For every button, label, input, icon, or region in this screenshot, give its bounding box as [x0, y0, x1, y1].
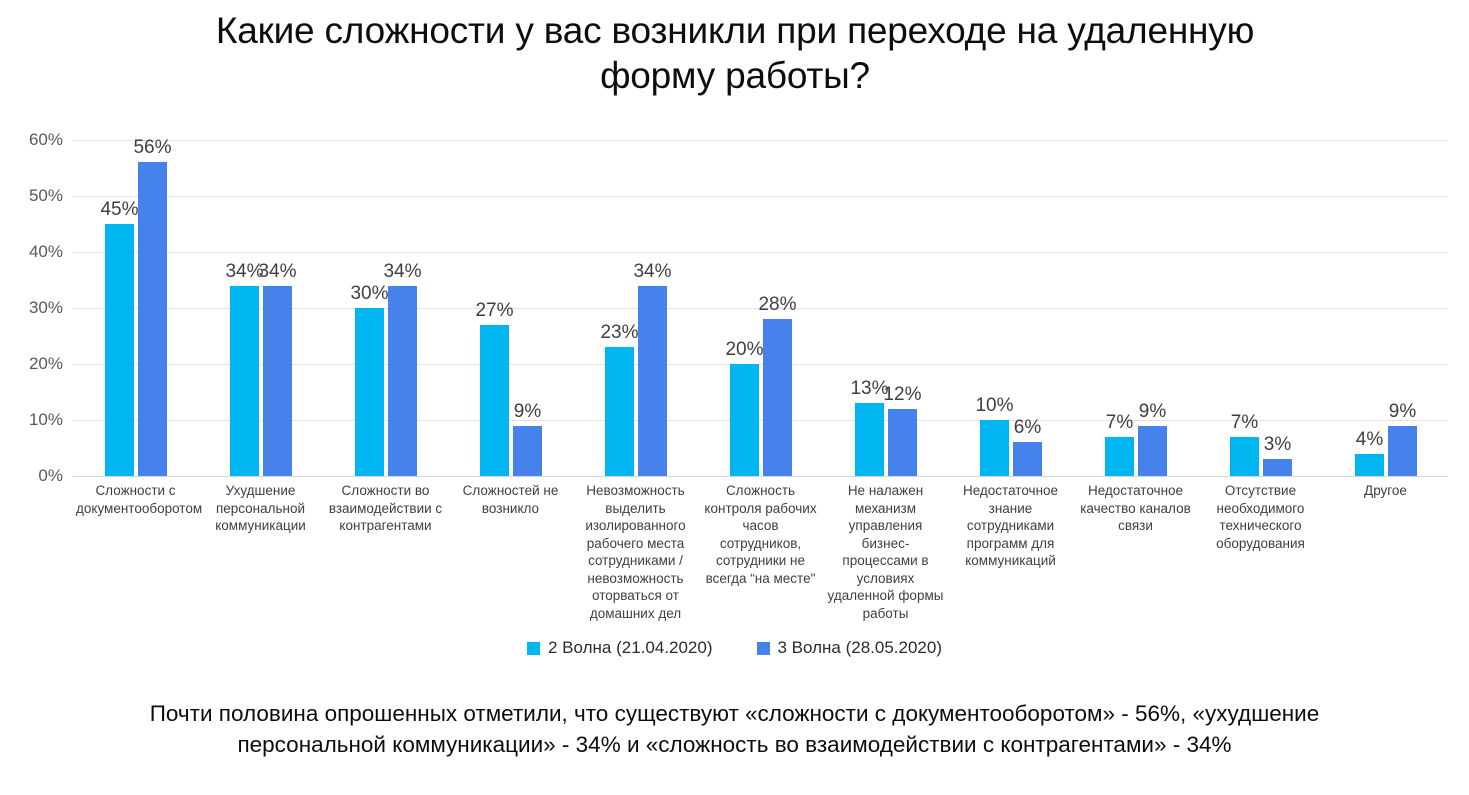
bar-group: 23%34%: [605, 140, 667, 476]
y-axis-tick-label: 10%: [0, 410, 73, 430]
x-axis-label: Недостаточное качество каналов связи: [1076, 482, 1195, 535]
bar-series-2[interactable]: [138, 162, 167, 476]
bar-group: 4%9%: [1355, 140, 1417, 476]
bar-value-label: 9%: [1368, 401, 1438, 423]
bar-group: 27%9%: [480, 140, 542, 476]
bar-value-label: 12%: [868, 384, 938, 406]
x-axis-category-labels: Сложности с документооборотомУхудшение п…: [73, 482, 1448, 627]
bar-value-label: 34%: [368, 261, 438, 283]
y-axis-tick-label: 50%: [0, 186, 73, 206]
bar-value-label: 28%: [743, 294, 813, 316]
bar-group: 10%6%: [980, 140, 1042, 476]
bar-value-label: 56%: [118, 137, 188, 159]
bar-value-label: 7%: [1210, 412, 1280, 434]
slide-chart-page: Какие сложности у вас возникли при перех…: [0, 0, 1469, 795]
x-axis-label: Сложность контроля рабочих часов сотрудн…: [701, 482, 820, 587]
x-axis-label: Сложностей не возникло: [451, 482, 570, 517]
bar-value-label: 27%: [460, 300, 530, 322]
bar-value-label: 3%: [1243, 434, 1313, 456]
x-axis-label: Недостаточное знание сотрудниками програ…: [951, 482, 1070, 570]
bar-value-label: 9%: [493, 401, 563, 423]
bar-group: 30%34%: [355, 140, 417, 476]
bar-series-2[interactable]: [1138, 426, 1167, 476]
bar-series-1[interactable]: [355, 308, 384, 476]
bar-series-2[interactable]: [1013, 442, 1042, 476]
bar-series-2[interactable]: [1388, 426, 1417, 476]
bar-series-1[interactable]: [730, 364, 759, 476]
bar-group: 13%12%: [855, 140, 917, 476]
bar-series-1[interactable]: [105, 224, 134, 476]
bar-group: 7%9%: [1105, 140, 1167, 476]
y-axis-tick-label: 20%: [0, 354, 73, 374]
chart-legend: 2 Волна (21.04.2020)3 Волна (28.05.2020): [0, 638, 1469, 658]
bar-group: 34%34%: [230, 140, 292, 476]
legend-label: 3 Волна (28.05.2020): [778, 638, 943, 658]
bar-series-2[interactable]: [513, 426, 542, 476]
bar-group: 20%28%: [730, 140, 792, 476]
bar-series-2[interactable]: [263, 286, 292, 476]
chart-plot-area: 45%56%34%34%30%34%27%9%23%34%20%28%13%12…: [0, 140, 1469, 490]
legend-item-1[interactable]: 2 Волна (21.04.2020): [527, 638, 713, 658]
x-axis-label: Невозможность выделить изолированного ра…: [576, 482, 695, 622]
y-axis-tick-label: 30%: [0, 298, 73, 318]
bar-series-1[interactable]: [605, 347, 634, 476]
x-axis-label: Не налажен механизм управления бизнес-пр…: [826, 482, 945, 622]
bar-value-label: 6%: [993, 417, 1063, 439]
bar-series-1[interactable]: [855, 403, 884, 476]
bar-value-label: 9%: [1118, 401, 1188, 423]
chart-bars-layer: 45%56%34%34%30%34%27%9%23%34%20%28%13%12…: [73, 140, 1448, 476]
x-axis-label: Другое: [1326, 482, 1445, 500]
page-title: Какие сложности у вас возникли при перех…: [180, 8, 1290, 98]
bar-series-1[interactable]: [230, 286, 259, 476]
y-axis-tick-label: 40%: [0, 242, 73, 262]
x-axis-label: Сложности во взаимодействии с контрагент…: [326, 482, 445, 535]
bar-value-label: 10%: [960, 395, 1030, 417]
y-axis-tick-label: 60%: [0, 130, 73, 150]
legend-swatch-icon: [757, 642, 770, 655]
bar-group: 7%3%: [1230, 140, 1292, 476]
bar-value-label: 34%: [618, 261, 688, 283]
x-axis-label: Ухудшение персональной коммуникации: [201, 482, 320, 535]
bar-group: 45%56%: [105, 140, 167, 476]
bar-series-2[interactable]: [388, 286, 417, 476]
x-axis-label: Сложности с документооборотом: [76, 482, 195, 517]
y-axis-tick-label: 0%: [0, 466, 73, 486]
legend-swatch-icon: [527, 642, 540, 655]
bar-value-label: 34%: [243, 261, 313, 283]
legend-label: 2 Волна (21.04.2020): [548, 638, 713, 658]
legend-item-2[interactable]: 3 Волна (28.05.2020): [757, 638, 943, 658]
bar-series-2[interactable]: [638, 286, 667, 476]
x-axis-label: Отсутствие необходимого технического обо…: [1201, 482, 1320, 552]
bar-series-1[interactable]: [1355, 454, 1384, 476]
bar-series-1[interactable]: [1105, 437, 1134, 476]
chart-caption: Почти половина опрошенных отметили, что …: [80, 698, 1389, 760]
bar-series-2[interactable]: [888, 409, 917, 476]
bar-series-2[interactable]: [1263, 459, 1292, 476]
gridline-0%: [73, 476, 1448, 477]
bar-series-2[interactable]: [763, 319, 792, 476]
